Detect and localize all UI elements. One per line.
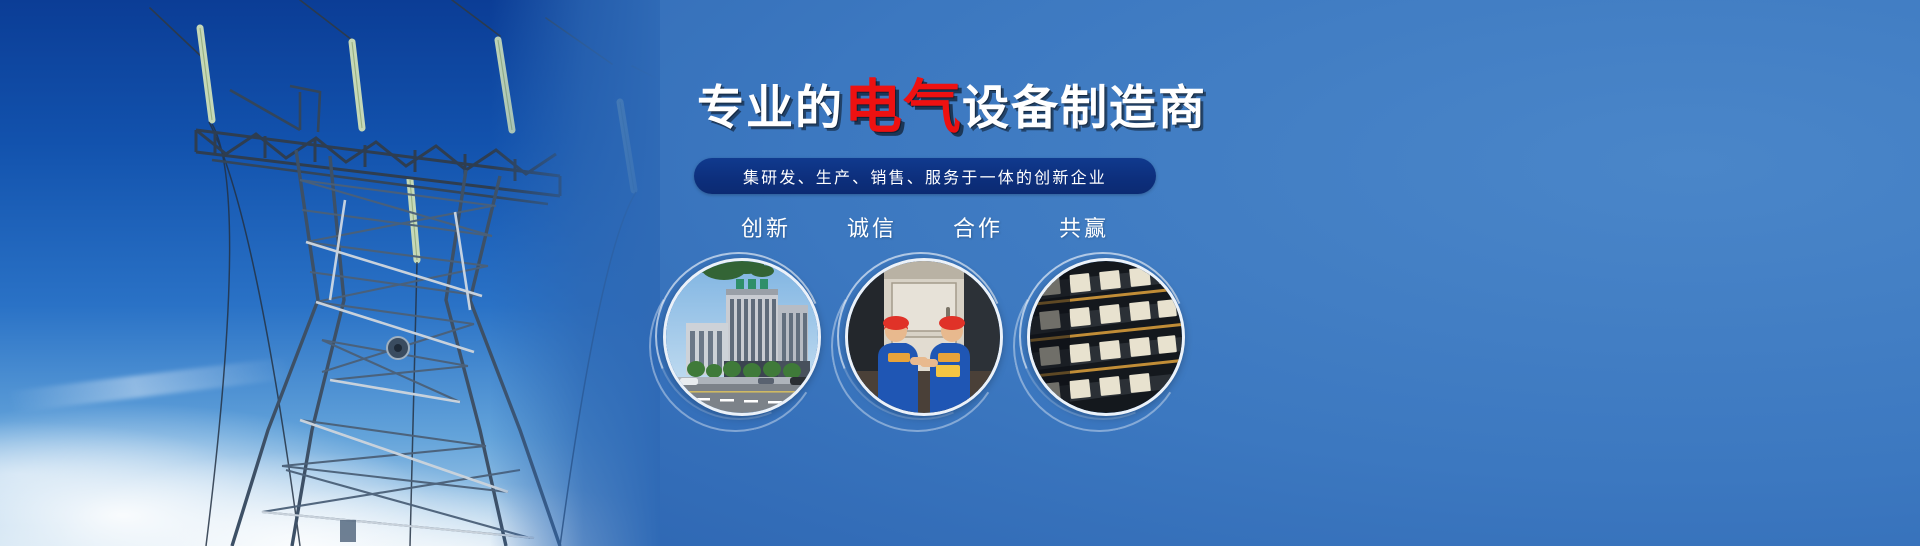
- transmission-tower-photo: [0, 0, 660, 546]
- slogan-word-integrity: 诚信: [847, 211, 897, 243]
- subtitle-pill: 集研发、生产、销售、服务于一体的创新企业: [694, 158, 1156, 194]
- headline-highlight: 电气: [844, 73, 962, 141]
- circle-photo-office-building: [663, 258, 823, 418]
- circle-photo-disc: [845, 258, 1003, 416]
- headline-part-one: 专业的: [697, 81, 844, 136]
- slogan-word-cooperation: 合作: [953, 211, 1003, 243]
- slogan-row: 创新 诚信 合作 共赢: [694, 210, 1156, 244]
- hero-banner: 专业的电气设备制造商 集研发、生产、销售、服务于一体的创新企业 创新 诚信 合作…: [0, 0, 1920, 546]
- slogan-word-winwin: 共赢: [1059, 211, 1109, 243]
- pylon-illustration: [0, 0, 660, 546]
- circle-photo-engineers: [845, 258, 1005, 418]
- subtitle-pill-text: 集研发、生产、销售、服务于一体的创新企业: [743, 164, 1107, 188]
- headline-part-two: 设备制造商: [962, 81, 1207, 136]
- banner-headline: 专业的电气设备制造商: [672, 78, 1232, 136]
- circle-photo-disc: [1027, 258, 1185, 416]
- engineers-illustration: [848, 261, 1000, 413]
- circle-photo-showroom: [1027, 258, 1187, 418]
- circle-photo-group: [655, 258, 1215, 518]
- office-building-illustration: [666, 261, 818, 413]
- showroom-illustration: [1030, 261, 1182, 413]
- slogan-word-innovation: 创新: [741, 211, 791, 243]
- circle-photo-disc: [663, 258, 821, 416]
